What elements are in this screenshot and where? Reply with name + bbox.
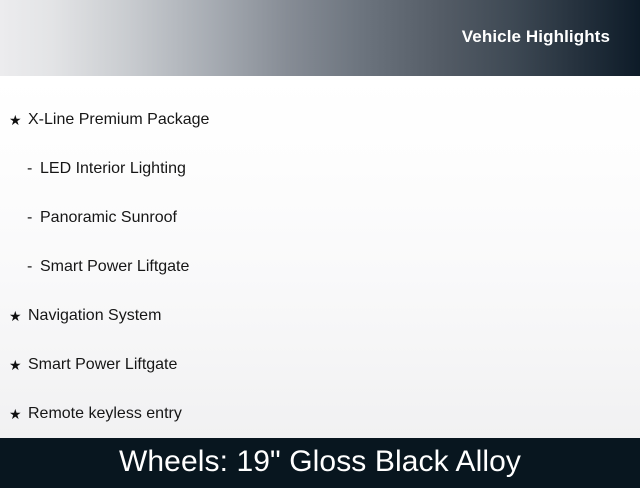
- list-item-label: LED Interior Lighting: [40, 160, 186, 178]
- star-icon: ★: [0, 407, 22, 421]
- list-item-label: X-Line Premium Package: [22, 111, 209, 129]
- dash-icon: -: [0, 161, 40, 177]
- dash-icon: -: [0, 210, 40, 226]
- list-item-label: Smart Power Liftgate: [40, 258, 189, 276]
- list-item: ★X-Line Premium Package: [0, 95, 640, 144]
- star-icon: ★: [0, 358, 22, 372]
- list-item: ★Remote keyless entry: [0, 389, 640, 438]
- star-icon: ★: [0, 309, 22, 323]
- dash-icon: -: [0, 259, 40, 275]
- list-item: ★Smart Power Liftgate: [0, 340, 640, 389]
- list-item: ★Navigation System: [0, 291, 640, 340]
- header-banner: Vehicle Highlights: [0, 0, 640, 76]
- page-title: Vehicle Highlights: [462, 27, 640, 49]
- highlights-list: ★X-Line Premium Package-LED Interior Lig…: [0, 76, 640, 438]
- list-item-sub: -LED Interior Lighting: [0, 144, 640, 193]
- list-item-sub: -Panoramic Sunroof: [0, 193, 640, 242]
- footer-banner: Wheels: 19" Gloss Black Alloy: [0, 438, 640, 488]
- list-item-label: Remote keyless entry: [22, 405, 182, 423]
- list-item-sub: -Smart Power Liftgate: [0, 242, 640, 291]
- list-item-label: Panoramic Sunroof: [40, 209, 177, 227]
- vehicle-highlights-card: Vehicle Highlights ★X-Line Premium Packa…: [0, 0, 640, 480]
- list-item-label: Smart Power Liftgate: [22, 356, 177, 374]
- wheels-callout: Wheels: 19" Gloss Black Alloy: [119, 445, 521, 481]
- list-item-label: Navigation System: [22, 307, 161, 325]
- star-icon: ★: [0, 113, 22, 127]
